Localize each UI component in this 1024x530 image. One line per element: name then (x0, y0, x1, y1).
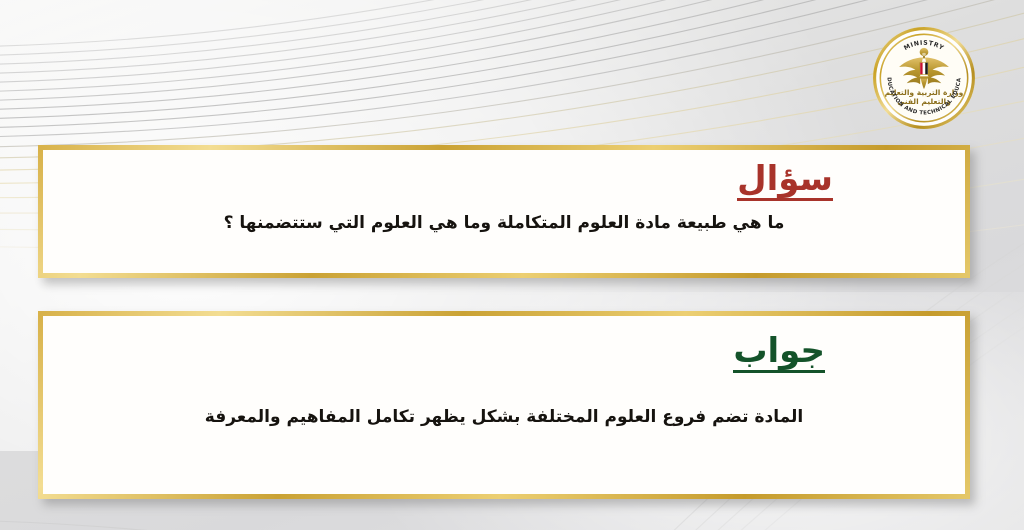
slide-canvas: وزارة التربية والتعليم والتعليم الفني MI… (0, 0, 1024, 530)
answer-card-inner: جواب المادة تضم فروع العلوم المختلفة بشك… (43, 316, 965, 494)
question-card-inner: سؤال ما هي طبيعة مادة العلوم المتكاملة و… (43, 150, 965, 273)
ministry-logo: وزارة التربية والتعليم والتعليم الفني MI… (872, 26, 976, 130)
answer-body-text: المادة تضم فروع العلوم المختلفة بشكل يظه… (43, 406, 965, 430)
answer-card: جواب المادة تضم فروع العلوم المختلفة بشك… (38, 311, 970, 499)
question-heading: سؤال (737, 162, 833, 201)
question-body-text: ما هي طبيعة مادة العلوم المتكاملة وما هي… (43, 212, 965, 236)
answer-heading-text: جواب (733, 334, 825, 373)
answer-heading: جواب (733, 334, 825, 373)
question-heading-text: سؤال (737, 162, 833, 201)
ministry-seal-icon: وزارة التربية والتعليم والتعليم الفني MI… (872, 26, 976, 130)
question-card: سؤال ما هي طبيعة مادة العلوم المتكاملة و… (38, 145, 970, 278)
